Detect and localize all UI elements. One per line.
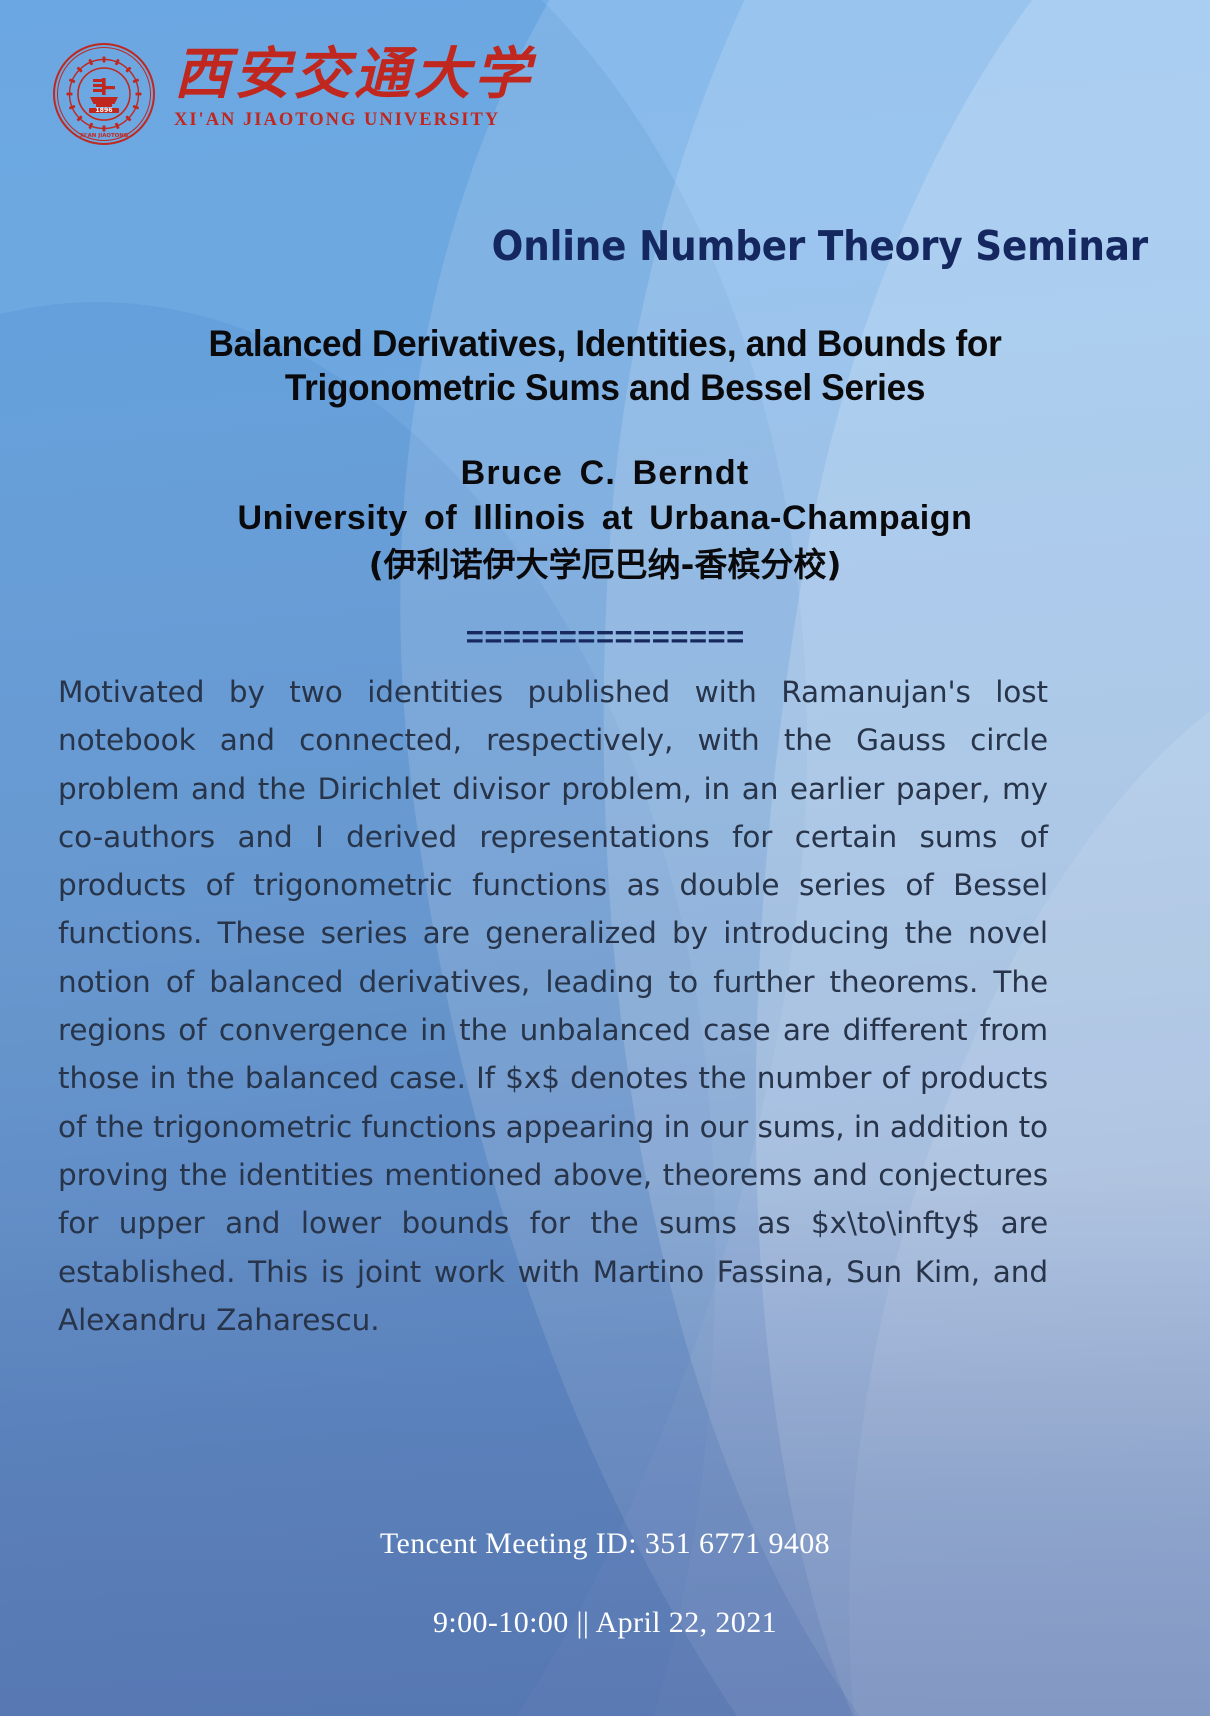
seal-year: 1896 (95, 107, 112, 114)
speaker-affiliation-cn: (伊利诺伊大学厄巴纳-香槟分校) (50, 544, 1160, 586)
university-name-en: XI'AN JIAOTONG UNIVERSITY (174, 110, 534, 131)
abstract-line: functions. These series are generalized … (58, 909, 1048, 957)
talk-title-line-1: Balanced Derivatives, Identities, and Bo… (87, 322, 1123, 366)
abstract-line: co-authors and I derived representations… (58, 813, 1048, 861)
abstract-line: proving the identities mentioned above, … (58, 1151, 1048, 1199)
university-name-cn: 西安交通大学 (174, 46, 534, 102)
xjtu-seal-icon: 1896 XI'AN JIAOTONG (52, 42, 156, 146)
section-divider: =============== (0, 622, 1210, 657)
abstract-line: Motivated by two identities published wi… (58, 668, 1048, 716)
abstract-line: notion of balanced derivatives, leading … (58, 958, 1048, 1006)
talk-title-line-2: Trigonometric Sums and Bessel Series (87, 366, 1123, 410)
abstract-line: problem and the Dirichlet divisor proble… (58, 765, 1048, 813)
seminar-poster: 1896 XI'AN JIAOTONG 西安交通大学 XI'AN JIAOTON… (0, 0, 1210, 1716)
abstract-line: notebook and connected, respectively, wi… (58, 716, 1048, 764)
abstract-text: Motivated by two identities published wi… (58, 668, 1048, 1344)
abstract-line: those in the balanced case. If $x$ denot… (58, 1054, 1048, 1102)
meeting-id-line: Tencent Meeting ID: 351 6771 9408 (0, 1527, 1210, 1561)
speaker-block: Bruce C. Berndt University of Illinois a… (50, 452, 1160, 586)
seal-ring-text: XI'AN JIAOTONG (80, 133, 129, 139)
talk-title: Balanced Derivatives, Identities, and Bo… (87, 322, 1123, 411)
abstract-line: products of trigonometric functions as d… (58, 861, 1048, 909)
session-time-line: 9:00-10:00 || April 22, 2021 (0, 1606, 1210, 1640)
abstract-line: Alexandru Zaharescu. (58, 1296, 1048, 1344)
abstract-line: of the trigonometric functions appearing… (58, 1103, 1048, 1151)
abstract-line: regions of convergence in the unbalanced… (58, 1006, 1048, 1054)
university-logo: 1896 XI'AN JIAOTONG 西安交通大学 XI'AN JIAOTON… (52, 42, 534, 146)
speaker-affiliation-en: University of Illinois at Urbana-Champai… (50, 497, 1160, 540)
abstract-line: for upper and lower bounds for the sums … (58, 1199, 1048, 1247)
abstract-line: established. This is joint work with Mar… (58, 1248, 1048, 1296)
seminar-series-label: Online Number Theory Seminar (103, 222, 1148, 270)
speaker-name: Bruce C. Berndt (50, 452, 1160, 495)
